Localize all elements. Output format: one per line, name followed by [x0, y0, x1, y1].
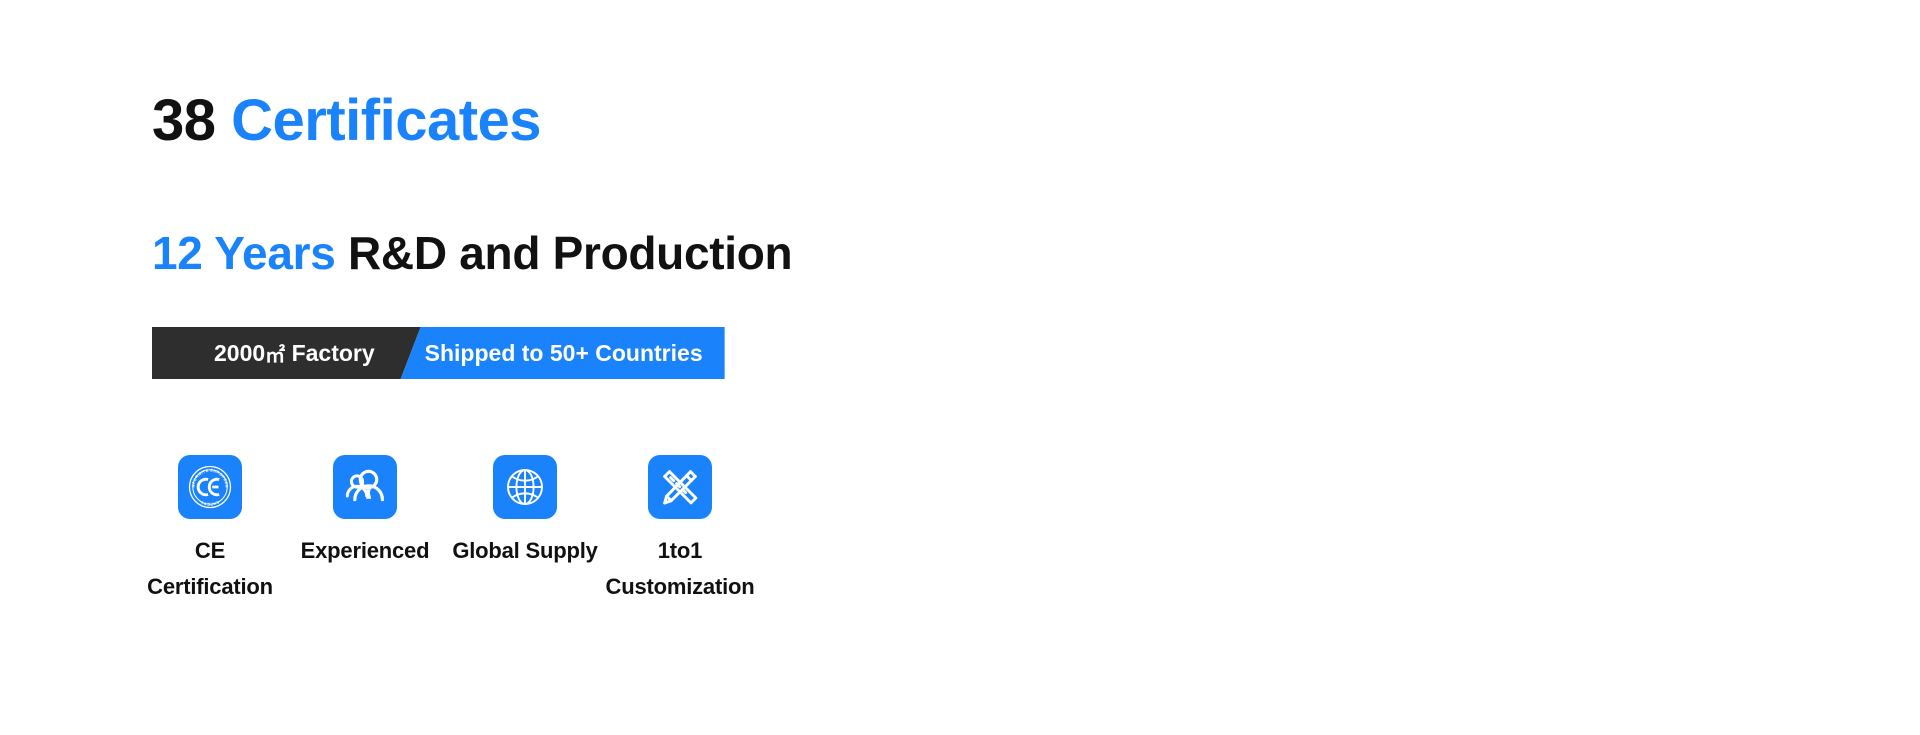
- people-group-icon: [333, 455, 397, 519]
- certificates-count: 38: [152, 88, 216, 153]
- shipping-countries-text: Shipped to 50+ Countries: [425, 340, 703, 367]
- feature-label: 1to1 Customization: [606, 533, 755, 604]
- shipping-countries-segment: Shipped to 50+ Countries: [401, 327, 725, 379]
- certificates-word: Certificates: [231, 88, 541, 153]
- ce-mark-icon: CONFORMITE EUROPEENNE SAFETY: [178, 455, 242, 519]
- headline-certificates: 38 Certificates: [152, 92, 541, 150]
- feature-label: Experienced: [301, 533, 430, 569]
- rnd-production-text: R&D and Production: [348, 227, 792, 279]
- feature-customization: 1to1 Customization: [585, 455, 775, 604]
- feature-label: CE Certification: [147, 533, 273, 604]
- feature-list: CONFORMITE EUROPEENNE SAFETY CE Certific…: [120, 455, 880, 635]
- stats-banner: 2000㎡ Factory Shipped to 50+ Countries: [152, 327, 725, 379]
- headline-experience: 12 Years R&D and Production: [152, 230, 792, 276]
- factory-area-value: 2000: [214, 340, 265, 367]
- years-highlight: 12 Years: [152, 227, 336, 279]
- promo-banner-page: 38 Certificates 12 Years R&D and Product…: [0, 0, 1920, 735]
- square-meter-unit: ㎡: [265, 339, 285, 368]
- factory-label: Factory: [292, 340, 375, 367]
- pencil-ruler-icon: [648, 455, 712, 519]
- globe-icon: [493, 455, 557, 519]
- feature-label: Global Supply: [452, 533, 597, 569]
- factory-size-segment: 2000㎡ Factory: [152, 327, 421, 379]
